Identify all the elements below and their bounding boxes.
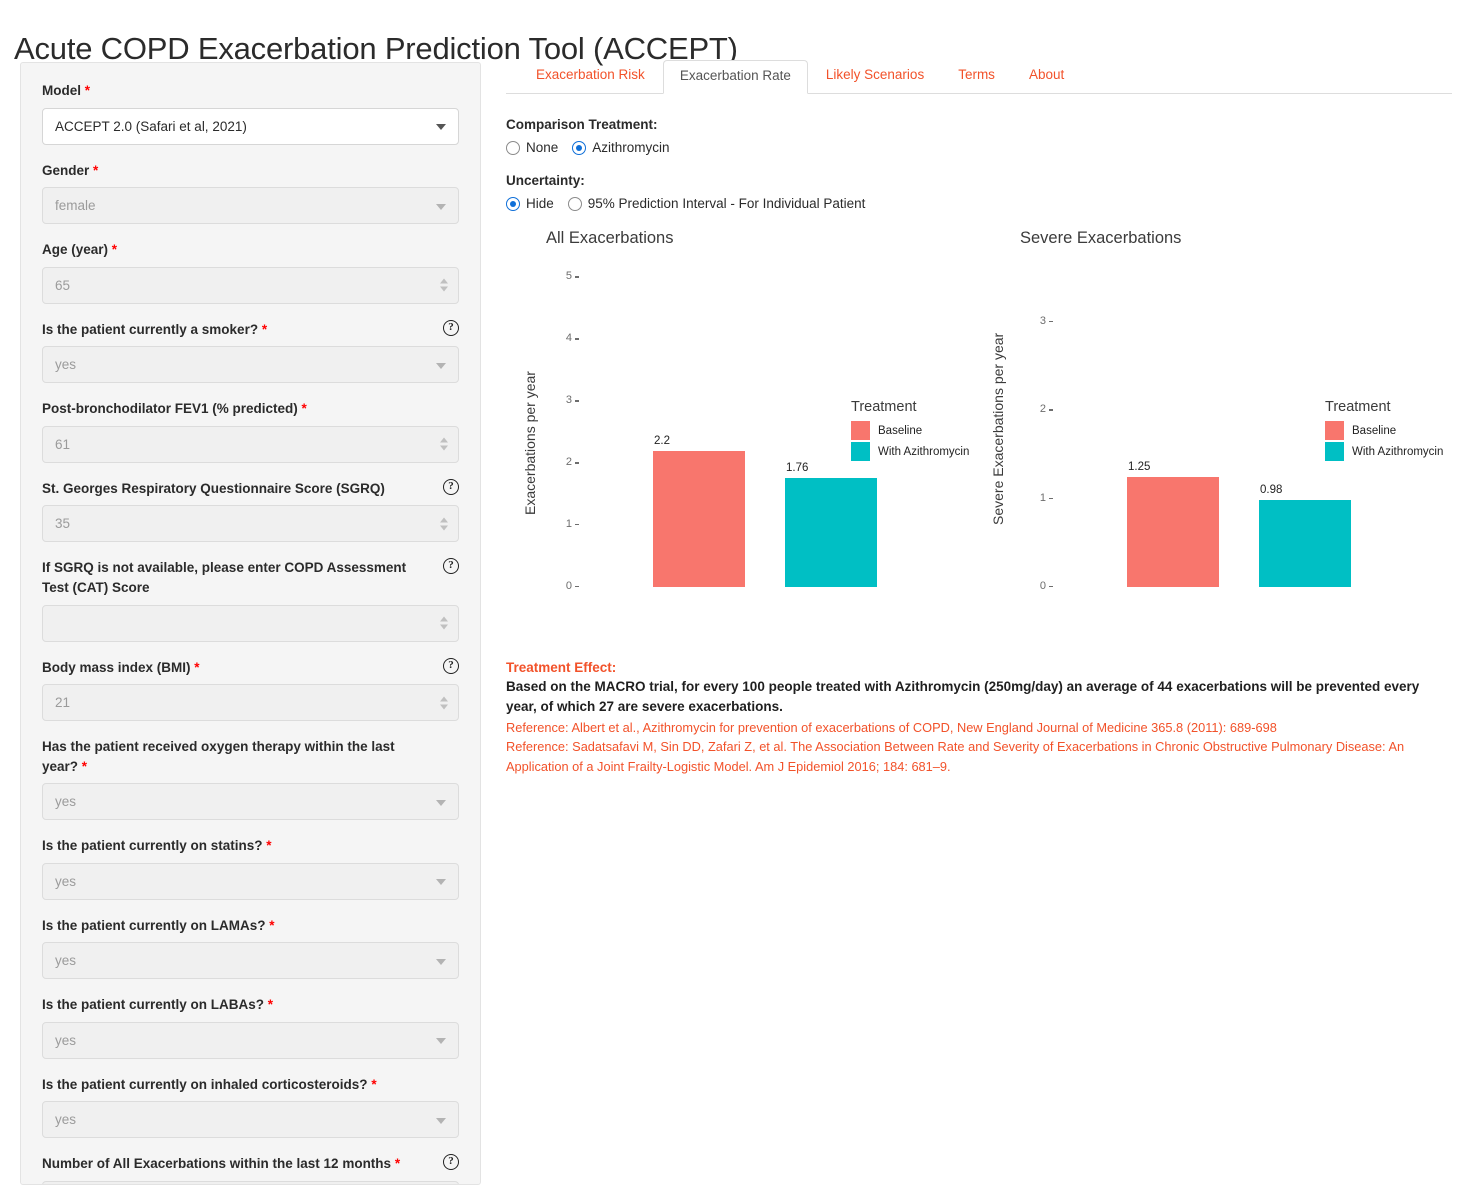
comparison-treatment-label: Comparison Treatment:: [506, 117, 1452, 132]
field-label-text: Is the patient currently on LAMAs?: [42, 918, 266, 933]
field-value: yes: [55, 357, 76, 372]
required-marker: *: [191, 660, 200, 675]
stepper-icon[interactable]: [440, 696, 449, 709]
comparison-treatment-option[interactable]: Azithromycin: [572, 140, 669, 155]
chevron-down-icon[interactable]: [436, 124, 446, 130]
legend-item: With Azithromycin: [851, 442, 969, 461]
form-field: Is the patient currently on LABAs? *yes: [42, 995, 459, 1059]
required-marker: *: [89, 163, 98, 178]
stepper-icon[interactable]: [440, 438, 449, 451]
select-input[interactable]: yes: [42, 346, 459, 383]
field-label: Model *: [42, 81, 459, 101]
legend-label: With Azithromycin: [878, 446, 969, 458]
number-input[interactable]: 65: [42, 267, 459, 304]
bar-chart: Severe ExacerbationsSevere Exacerbations…: [980, 229, 1450, 624]
form-field: Gender *female: [42, 161, 459, 225]
chevron-down-icon[interactable]: [436, 1038, 446, 1044]
field-label-text: Age (year): [42, 242, 108, 257]
select-input[interactable]: female: [42, 187, 459, 224]
field-label: Post-bronchodilator FEV1 (% predicted) *: [42, 399, 459, 419]
chart-title: All Exacerbations: [546, 229, 673, 248]
legend-swatch: [1325, 442, 1344, 461]
treatment-effect-heading: Treatment Effect:: [506, 660, 1452, 675]
legend-label: Baseline: [878, 425, 922, 437]
field-label-text: Is the patient currently on LABAs?: [42, 997, 264, 1012]
number-input[interactable]: 35: [42, 505, 459, 542]
number-input[interactable]: 21: [42, 684, 459, 721]
field-value: yes: [55, 953, 76, 968]
legend-item: Baseline: [851, 421, 969, 440]
y-axis-tick: 0: [1008, 580, 1046, 592]
chart-title: Severe Exacerbations: [1020, 229, 1181, 248]
field-label: Has the patient received oxygen therapy …: [42, 737, 459, 776]
reference-2: Reference: Sadatsafavi M, Sin DD, Zafari…: [506, 737, 1452, 775]
y-axis-tick: 3: [534, 394, 572, 406]
field-value: ACCEPT 2.0 (Safari et al, 2021): [55, 119, 247, 134]
field-label: Is the patient currently a smoker? *: [42, 320, 459, 340]
required-marker: *: [264, 997, 273, 1012]
select-input[interactable]: yes: [42, 783, 459, 820]
stepper-icon[interactable]: [440, 617, 449, 630]
app-root: Acute COPD Exacerbation Prediction Tool …: [0, 0, 1462, 1185]
field-label-text: Gender: [42, 163, 89, 178]
number-input[interactable]: [42, 605, 459, 642]
uncertainty-radios: Hide95% Prediction Interval - For Indivi…: [506, 196, 1452, 211]
legend-item: With Azithromycin: [1325, 442, 1443, 461]
legend-label: Baseline: [1352, 425, 1396, 437]
uncertainty-option[interactable]: Hide: [506, 196, 554, 211]
required-marker: *: [263, 838, 272, 853]
field-value: 35: [55, 516, 70, 531]
bar-value-label: 2.2: [654, 435, 670, 447]
chart-legend: TreatmentBaselineWith Azithromycin: [1325, 399, 1443, 463]
radio-label: Hide: [526, 196, 554, 211]
form-field: Has the patient received oxygen therapy …: [42, 737, 459, 820]
select-input[interactable]: yes: [42, 1101, 459, 1138]
field-label: Age (year) *: [42, 240, 459, 260]
tab-likely-scenarios[interactable]: Likely Scenarios: [810, 60, 940, 94]
comparison-treatment-option[interactable]: None: [506, 140, 558, 155]
y-axis-tick: 0: [534, 580, 572, 592]
radio-label: None: [526, 140, 558, 155]
radio-button[interactable]: [568, 197, 582, 211]
required-marker: *: [108, 242, 117, 257]
field-label-text: Body mass index (BMI): [42, 660, 191, 675]
bar-baseline: [1127, 477, 1219, 587]
field-value: yes: [55, 794, 76, 809]
y-axis-tick: 2: [534, 456, 572, 468]
tab-about[interactable]: About: [1013, 60, 1080, 94]
legend-title: Treatment: [851, 399, 969, 415]
y-axis-title: Exacerbations per year: [522, 371, 538, 515]
options-area: Comparison Treatment: NoneAzithromycin U…: [506, 117, 1452, 211]
y-axis-tick: 5: [534, 270, 572, 282]
bar-with-azithromycin: [785, 478, 877, 587]
legend-swatch: [851, 421, 870, 440]
y-axis-tick: 1: [534, 518, 572, 530]
field-label-text: Is the patient currently on inhaled cort…: [42, 1077, 368, 1092]
chevron-down-icon[interactable]: [436, 800, 446, 806]
treatment-effect-section: Treatment Effect: Based on the MACRO tri…: [506, 660, 1452, 776]
field-label-text: Post-bronchodilator FEV1 (% predicted): [42, 401, 298, 416]
radio-button[interactable]: [506, 141, 520, 155]
y-axis-tick: 1: [1008, 492, 1046, 504]
form-field: Model *ACCEPT 2.0 (Safari et al, 2021): [42, 81, 459, 145]
bar-value-label: 1.76: [786, 462, 808, 474]
help-icon[interactable]: ?: [443, 479, 459, 495]
help-icon[interactable]: ?: [443, 320, 459, 336]
bar-value-label: 1.25: [1128, 461, 1150, 473]
form-field: Age (year) *65: [42, 240, 459, 304]
field-label: Is the patient currently on LAMAs? *: [42, 916, 459, 936]
field-value: 61: [55, 437, 70, 452]
form-field: Is the patient currently on statins? *ye…: [42, 836, 459, 900]
tab-exacerbation-rate[interactable]: Exacerbation Rate: [663, 60, 808, 94]
chevron-down-icon[interactable]: [436, 879, 446, 885]
stepper-icon[interactable]: [440, 517, 449, 530]
field-label-text: Number of All Exacerbations within the l…: [42, 1156, 391, 1171]
field-label-text: Has the patient received oxygen therapy …: [42, 739, 395, 774]
field-label-text: If SGRQ is not available, please enter C…: [42, 560, 406, 595]
radio-label: Azithromycin: [592, 140, 669, 155]
field-label: Gender *: [42, 161, 459, 181]
field-label: Is the patient currently on LABAs? *: [42, 995, 459, 1015]
select-input[interactable]: yes: [42, 1022, 459, 1059]
legend-swatch: [1325, 421, 1344, 440]
form-field: Is the patient currently on inhaled cort…: [42, 1075, 459, 1139]
form-field: Is the patient currently on LAMAs? *yes: [42, 916, 459, 980]
bar-value-label: 0.98: [1260, 484, 1282, 496]
required-marker: *: [266, 918, 275, 933]
required-marker: *: [258, 322, 267, 337]
legend-swatch: [851, 442, 870, 461]
required-marker: *: [298, 401, 307, 416]
number-input[interactable]: 61: [42, 426, 459, 463]
required-marker: *: [391, 1156, 400, 1171]
field-label-text: Model: [42, 83, 81, 98]
charts-area: All ExacerbationsExacerbations per year0…: [506, 229, 1452, 629]
uncertainty-label: Uncertainty:: [506, 173, 1452, 188]
y-axis-tick: 4: [534, 332, 572, 344]
y-axis-tick: 2: [1008, 403, 1046, 415]
help-icon[interactable]: ?: [443, 658, 459, 674]
legend-item: Baseline: [1325, 421, 1443, 440]
legend-title: Treatment: [1325, 399, 1443, 415]
patient-input-form: Model *ACCEPT 2.0 (Safari et al, 2021)Ge…: [20, 62, 481, 1185]
select-input[interactable]: ACCEPT 2.0 (Safari et al, 2021): [42, 108, 459, 145]
field-value: yes: [55, 874, 76, 889]
stepper-icon[interactable]: [440, 279, 449, 292]
treatment-effect-body: Based on the MACRO trial, for every 100 …: [506, 677, 1452, 716]
chevron-down-icon[interactable]: [436, 204, 446, 210]
required-marker: *: [81, 83, 90, 98]
bar-chart: All ExacerbationsExacerbations per year0…: [506, 229, 976, 624]
reference-1: Reference: Albert et al., Azithromycin f…: [506, 718, 1452, 737]
y-axis-title: Severe Exacerbations per year: [990, 333, 1006, 525]
radio-button[interactable]: [506, 197, 520, 211]
field-value: yes: [55, 1033, 76, 1048]
field-label: Is the patient currently on inhaled cort…: [42, 1075, 459, 1095]
field-label: Number of All Exacerbations within the l…: [42, 1154, 459, 1174]
form-field: Post-bronchodilator FEV1 (% predicted) *…: [42, 399, 459, 463]
tab-terms[interactable]: Terms: [942, 60, 1011, 94]
main-panel: Exacerbation RiskExacerbation RateLikely…: [506, 60, 1452, 629]
bar-with-azithromycin: [1259, 500, 1351, 587]
field-value: female: [55, 198, 96, 213]
number-input[interactable]: 3: [42, 1181, 459, 1185]
radio-label: 95% Prediction Interval - For Individual…: [588, 196, 866, 211]
required-marker: *: [78, 759, 87, 774]
field-label: Is the patient currently on statins? *: [42, 836, 459, 856]
form-field: Body mass index (BMI) *?21: [42, 658, 459, 722]
tab-exacerbation-risk[interactable]: Exacerbation Risk: [520, 60, 661, 94]
chart-legend: TreatmentBaselineWith Azithromycin: [851, 399, 969, 463]
field-value: yes: [55, 1112, 76, 1127]
form-field: St. Georges Respiratory Questionnaire Sc…: [42, 479, 459, 543]
chevron-down-icon[interactable]: [436, 959, 446, 965]
field-value: 65: [55, 278, 70, 293]
comparison-treatment-radios: NoneAzithromycin: [506, 140, 1452, 155]
form-field: If SGRQ is not available, please enter C…: [42, 558, 459, 641]
required-marker: *: [368, 1077, 377, 1092]
select-input[interactable]: yes: [42, 942, 459, 979]
chevron-down-icon[interactable]: [436, 363, 446, 369]
tab-bar: Exacerbation RiskExacerbation RateLikely…: [506, 60, 1452, 94]
y-axis-tick: 3: [1008, 315, 1046, 327]
form-field: Is the patient currently a smoker? *?yes: [42, 320, 459, 384]
field-label: If SGRQ is not available, please enter C…: [42, 558, 459, 597]
field-label-text: Is the patient currently on statins?: [42, 838, 263, 853]
field-value: 21: [55, 695, 70, 710]
select-input[interactable]: yes: [42, 863, 459, 900]
chevron-down-icon[interactable]: [436, 1118, 446, 1124]
field-label: St. Georges Respiratory Questionnaire Sc…: [42, 479, 459, 499]
form-field: Number of All Exacerbations within the l…: [42, 1154, 459, 1185]
field-label: Body mass index (BMI) *: [42, 658, 459, 678]
uncertainty-option[interactable]: 95% Prediction Interval - For Individual…: [568, 196, 866, 211]
legend-label: With Azithromycin: [1352, 446, 1443, 458]
radio-button[interactable]: [572, 141, 586, 155]
field-label-text: Is the patient currently a smoker?: [42, 322, 258, 337]
bar-baseline: [653, 451, 745, 587]
field-label-text: St. Georges Respiratory Questionnaire Sc…: [42, 481, 385, 496]
